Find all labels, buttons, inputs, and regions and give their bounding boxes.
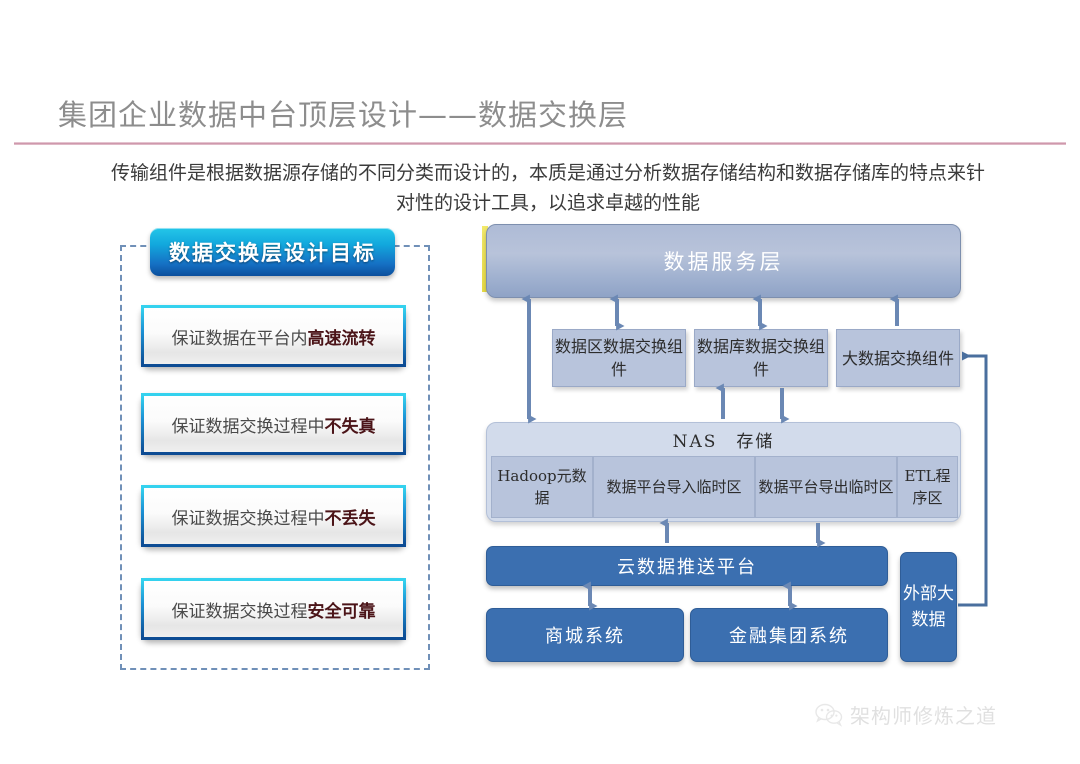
component-box-bigdata-label: 大数据交换组件 [842, 347, 954, 370]
nas-cell-etl-zone[interactable]: ETL程序区 [897, 456, 958, 518]
goal-item-1-text: 保证数据交换过程中不失真 [172, 412, 376, 437]
goal-item-1-emphasis: 不失真 [325, 417, 376, 437]
cloud-push-platform-box[interactable]: 云数据推送平台 [486, 546, 888, 586]
goals-panel-header-label: 数据交换层设计目标 [169, 237, 376, 267]
goal-item-1[interactable]: 保证数据交换过程中不失真 [141, 393, 406, 455]
nas-cell-hadoop-metadata-label: Hadoop元数据 [492, 465, 592, 509]
goal-item-3[interactable]: 保证数据交换过程安全可靠 [141, 578, 406, 640]
nas-cell-etl-zone-label: ETL程序区 [898, 465, 957, 509]
service-layer-box[interactable]: 数据服务层 [486, 224, 961, 298]
nas-storage-title-label: NAS 存储 [673, 427, 775, 452]
component-box-data-zone[interactable]: 数据区数据交换组件 [552, 329, 686, 387]
goal-item-0-emphasis: 高速流转 [308, 329, 376, 349]
slide-subtitle: 传输组件是根据数据源存储的不同分类而设计的，本质是通过分析数据存储结构和数据存储… [108, 158, 988, 218]
goal-item-3-prefix: 保证数据交换过程 [172, 602, 308, 622]
nas-cell-import-temp-label: 数据平台导入临时区 [606, 476, 741, 498]
nas-storage-panel: NAS 存储 Hadoop元数据 数据平台导入临时区 数据平台导出临时区 ETL… [486, 422, 961, 522]
arrow-external-to-component-2 [958, 356, 986, 605]
goal-item-3-text: 保证数据交换过程安全可靠 [172, 597, 376, 622]
component-box-database-label: 数据库数据交换组件 [695, 335, 827, 381]
goal-item-2-prefix: 保证数据交换过程中 [172, 509, 325, 529]
goal-item-0-prefix: 保证数据在平台内 [172, 329, 308, 349]
watermark: 架构师修炼之道 [815, 700, 997, 729]
nas-storage-title: NAS 存储 [487, 426, 960, 452]
component-box-database[interactable]: 数据库数据交换组件 [694, 329, 828, 387]
nas-cell-import-temp[interactable]: 数据平台导入临时区 [593, 456, 755, 518]
system-box-finance-group-label: 金融集团系统 [729, 622, 849, 648]
title-divider [14, 142, 1066, 145]
goal-item-2-emphasis: 不丢失 [325, 509, 376, 529]
system-box-finance-group[interactable]: 金融集团系统 [690, 608, 888, 662]
nas-cell-export-temp-label: 数据平台导出临时区 [758, 476, 893, 498]
nas-cell-export-temp[interactable]: 数据平台导出临时区 [755, 456, 897, 518]
slide-root: 集团企业数据中台顶层设计——数据交换层 传输组件是根据数据源存储的不同分类而设计… [0, 0, 1080, 764]
goal-item-3-emphasis: 安全可靠 [308, 602, 376, 622]
service-layer-label: 数据服务层 [664, 246, 784, 276]
page-title: 集团企业数据中台顶层设计——数据交换层 [58, 92, 628, 134]
goals-panel-header: 数据交换层设计目标 [150, 228, 395, 276]
component-box-bigdata[interactable]: 大数据交换组件 [836, 329, 960, 387]
nas-cell-hadoop-metadata[interactable]: Hadoop元数据 [491, 456, 593, 518]
watermark-text: 架构师修炼之道 [850, 700, 997, 729]
component-box-data-zone-label: 数据区数据交换组件 [553, 335, 685, 381]
goal-item-1-prefix: 保证数据交换过程中 [172, 417, 325, 437]
goal-item-0-text: 保证数据在平台内高速流转 [172, 324, 376, 349]
system-box-mall[interactable]: 商城系统 [486, 608, 684, 662]
external-bigdata-label: 外部大数据 [901, 581, 956, 633]
wechat-icon [815, 703, 843, 727]
system-box-mall-label: 商城系统 [545, 622, 625, 648]
goal-item-2[interactable]: 保证数据交换过程中不丢失 [141, 485, 406, 547]
external-bigdata-box[interactable]: 外部大数据 [900, 552, 957, 662]
goal-item-0[interactable]: 保证数据在平台内高速流转 [141, 305, 406, 367]
cloud-push-platform-label: 云数据推送平台 [617, 553, 757, 579]
goal-item-2-text: 保证数据交换过程中不丢失 [172, 504, 376, 529]
